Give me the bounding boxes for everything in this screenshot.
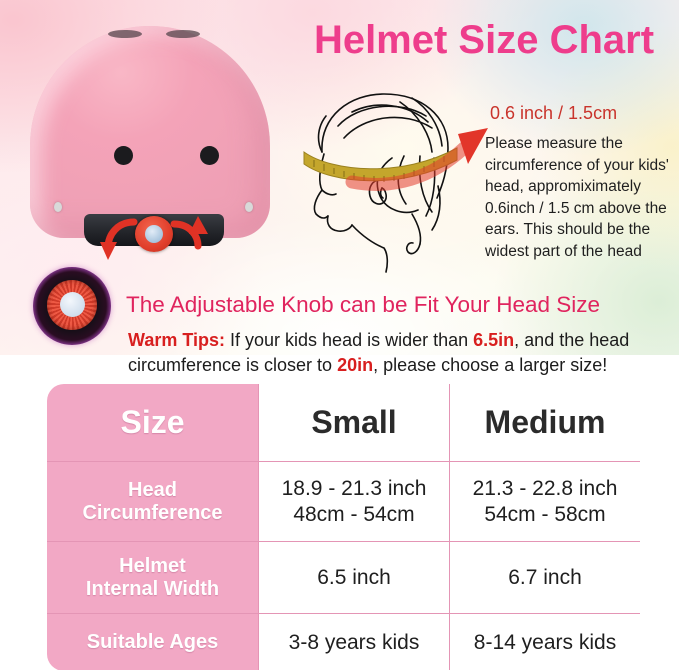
page-title: Helmet Size Chart [296,18,672,63]
table-row: Helmet Internal Width 6.5 inch 6.7 inch [47,542,641,614]
row-label-head-circumference: Head Circumference [47,462,259,542]
warm-tips-part1: If your kids head is wider than [225,330,473,350]
cell-line1: 21.3 - 22.8 inch [450,476,640,501]
warm-tips-text: Warm Tips: If your kids head is wider th… [128,328,672,378]
helmet-illustration [22,16,282,266]
row-label-line2: Circumference [47,502,258,525]
knob-headline: The Adjustable Knob can be Fit Your Head… [126,292,600,318]
cell-line1: 18.9 - 21.3 inch [259,476,449,501]
row-label-line1: Head [47,479,258,502]
cell-width-medium: 6.7 inch [450,542,641,614]
size-chart-table: Size Small Medium Head Circumference 18.… [46,383,641,670]
helmet-size-chart-page: Helmet Size Chart [0,0,679,670]
warm-tips-label: Warm Tips: [128,330,225,350]
warm-tips-value-width: 6.5in [473,330,514,350]
header-small: Small [259,384,450,462]
cell-ages-medium: 8-14 years kids [450,614,641,670]
adjustable-knob-closeup-icon [33,267,111,345]
head-measure-diagram [292,86,492,276]
table-header-row: Size Small Medium [47,384,641,462]
header-medium: Medium [450,384,641,462]
header-size: Size [47,384,259,462]
rotation-arrows-icon [22,16,282,266]
measure-note-heading: 0.6 inch / 1.5cm [490,103,617,124]
cell-circumference-medium: 21.3 - 22.8 inch 54cm - 58cm [450,462,641,542]
cell-ages-small: 3-8 years kids [259,614,450,670]
knob-center-icon [60,292,85,317]
cell-line2: 48cm - 54cm [259,502,449,527]
row-label-suitable-ages: Suitable Ages [47,614,259,670]
row-label-line2: Internal Width [47,578,258,601]
measure-note-body: Please measure the circumference of your… [485,133,675,262]
table-row: Head Circumference 18.9 - 21.3 inch 48cm… [47,462,641,542]
cell-circumference-small: 18.9 - 21.3 inch 48cm - 54cm [259,462,450,542]
warm-tips-part3: , please choose a larger size! [373,355,607,375]
row-label-helmet-internal-width: Helmet Internal Width [47,542,259,614]
table-row: Suitable Ages 3-8 years kids 8-14 years … [47,614,641,670]
warm-tips-value-circumference: 20in [337,355,373,375]
cell-width-small: 6.5 inch [259,542,450,614]
row-label-line1: Helmet [47,555,258,578]
cell-line2: 54cm - 58cm [450,502,640,527]
